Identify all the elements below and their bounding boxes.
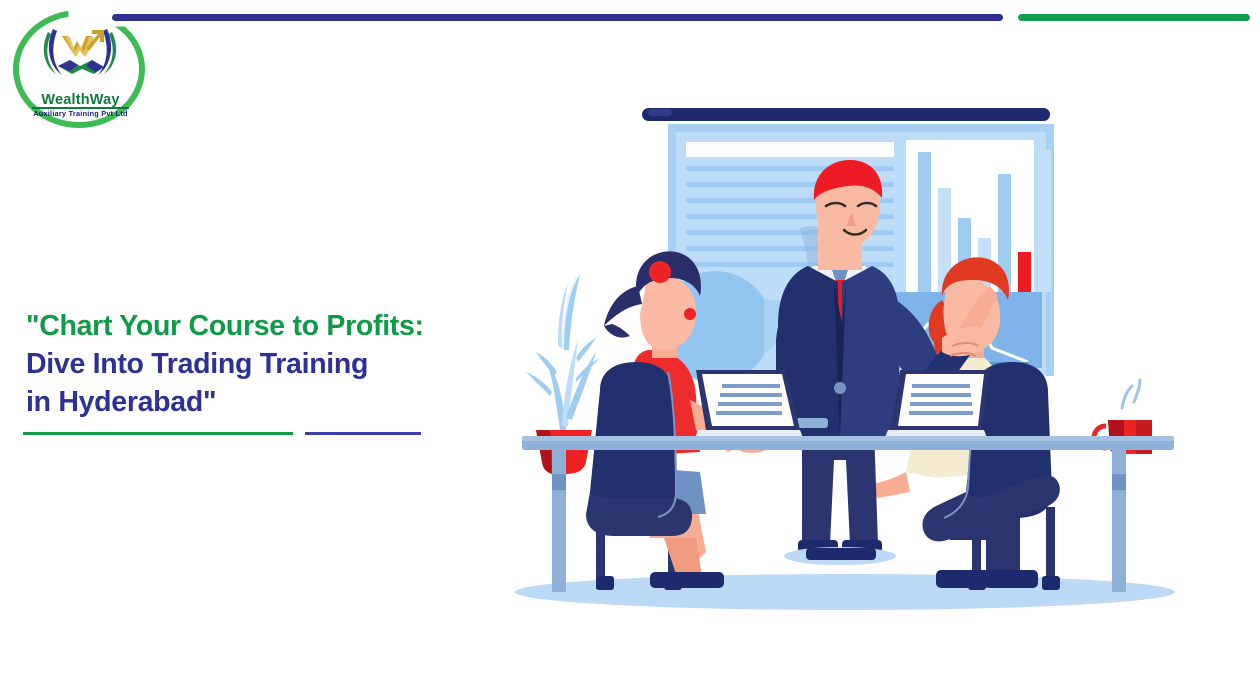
hair-tie <box>649 261 671 283</box>
headline-line-3: in Hyderabad" <box>26 384 496 422</box>
bar-highlight <box>1018 252 1031 292</box>
headline-rule-blue <box>305 432 421 435</box>
earring <box>684 308 696 320</box>
wealthway-handshake-arrow-icon <box>34 22 126 84</box>
top-rule-blue <box>112 14 1003 21</box>
poster-canvas: WealthWay Auxiliary Training Pvt Ltd "Ch… <box>0 0 1260 699</box>
jacket-button <box>834 382 846 394</box>
headline-rule-green <box>23 432 293 435</box>
headline-line-2: Dive Into Trading Training <box>26 346 496 384</box>
whiteboard-top-frame <box>642 108 1050 121</box>
pocket-square <box>796 418 828 428</box>
logo-tagline: Auxiliary Training Pvt Ltd <box>8 109 153 118</box>
illustration-svg <box>500 100 1200 610</box>
logo-brand-name: WealthWay <box>8 92 153 108</box>
top-rule-green <box>1018 14 1250 21</box>
trading-training-illustration <box>500 100 1200 610</box>
brand-logo[interactable]: WealthWay Auxiliary Training Pvt Ltd <box>8 8 153 136</box>
laptop-right <box>884 370 990 442</box>
headline-line-1: "Chart Your Course to Profits: <box>26 308 496 346</box>
page-title: "Chart Your Course to Profits: Dive Into… <box>26 308 496 422</box>
